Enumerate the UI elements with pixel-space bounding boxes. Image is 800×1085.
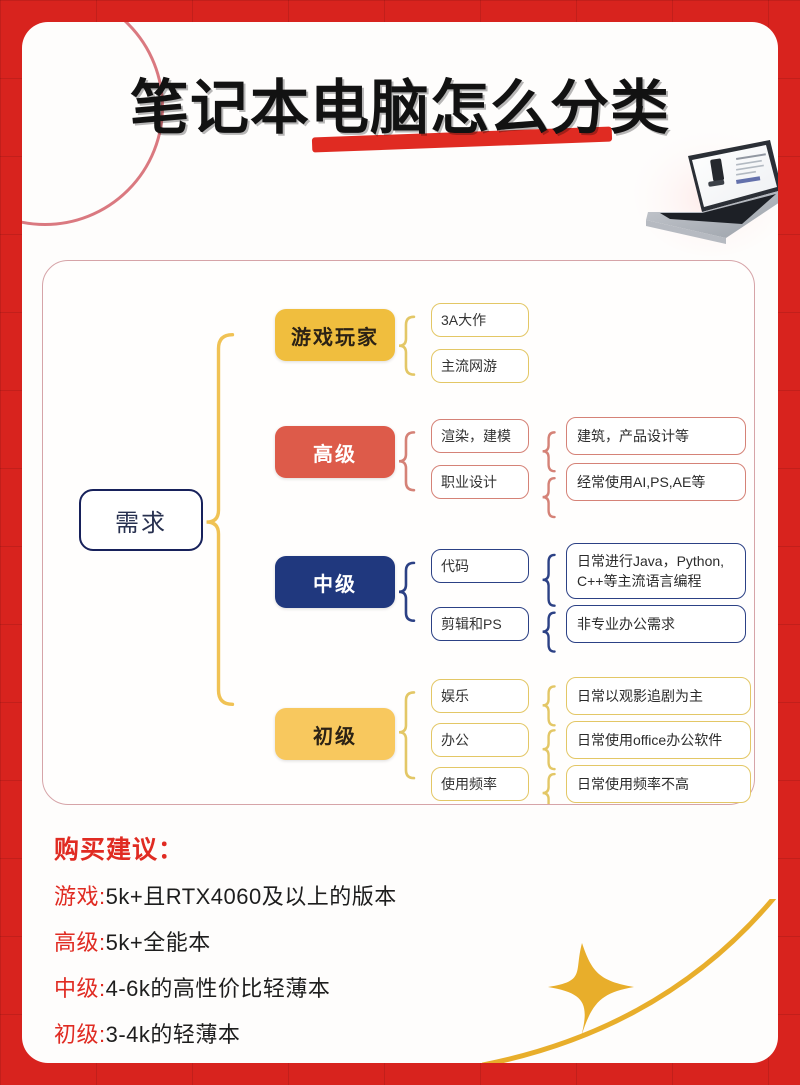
- detail-beg-movies[interactable]: 日常以观影追剧为主: [566, 677, 751, 715]
- detail-mid-programming-line2: C++等主流语言编程: [577, 571, 735, 591]
- advice-row-advanced-value: 5k+全能本: [106, 930, 211, 955]
- advice-row-intermediate-key: 中级:: [54, 976, 106, 1001]
- item-adv-design[interactable]: 职业设计: [431, 465, 529, 499]
- item-gamer-aaa-label: 3A大作: [441, 310, 486, 330]
- node-root-label: 需求: [115, 503, 167, 538]
- category-gamer-label: 游戏玩家: [291, 321, 379, 350]
- item-mid-code[interactable]: 代码: [431, 549, 529, 583]
- detail-mid-office-label: 非专业办公需求: [577, 614, 675, 634]
- detail-adv-tools-label: 经常使用AI,PS,AE等: [577, 472, 705, 492]
- advice-row-advanced-key: 高级:: [54, 930, 106, 955]
- detail-beg-frequency-label: 日常使用频率不高: [577, 774, 689, 794]
- detail-mid-programming-line1: 日常进行Java，Python,: [577, 551, 735, 571]
- mindmap-card: 需求 游戏玩家 高级 中级 初级 3A大作: [42, 260, 755, 805]
- detail-beg-office[interactable]: 日常使用office办公软件: [566, 721, 751, 759]
- poster-card: 笔记本电脑怎么分类: [22, 22, 778, 1063]
- advice-row-gaming-value: 5k+且RTX4060及以上的版本: [106, 884, 397, 909]
- advice-row-beginner-key: 初级:: [54, 1022, 106, 1047]
- item-beg-entertain-label: 娱乐: [441, 686, 469, 706]
- item-adv-render-label: 渲染，建模: [441, 426, 511, 446]
- item-mid-code-label: 代码: [441, 556, 469, 576]
- detail-adv-tools[interactable]: 经常使用AI,PS,AE等: [566, 463, 746, 501]
- item-adv-design-label: 职业设计: [441, 472, 497, 492]
- detail-adv-arch-label: 建筑，产品设计等: [577, 426, 689, 446]
- node-root[interactable]: 需求: [79, 489, 203, 551]
- detail-beg-office-label: 日常使用office办公软件: [577, 730, 722, 750]
- detail-mid-office[interactable]: 非专业办公需求: [566, 605, 746, 643]
- advice-title: 购买建议：: [54, 830, 754, 866]
- item-gamer-online[interactable]: 主流网游: [431, 349, 529, 383]
- item-beg-entertain[interactable]: 娱乐: [431, 679, 529, 713]
- category-advanced[interactable]: 高级: [275, 426, 395, 478]
- item-gamer-online-label: 主流网游: [441, 356, 497, 376]
- item-beg-office[interactable]: 办公: [431, 723, 529, 757]
- category-beginner[interactable]: 初级: [275, 708, 395, 760]
- advice-row-beginner-value: 3-4k的轻薄本: [106, 1022, 241, 1047]
- category-beginner-label: 初级: [313, 720, 357, 749]
- item-beg-office-label: 办公: [441, 730, 469, 750]
- category-gamer[interactable]: 游戏玩家: [275, 309, 395, 361]
- detail-beg-movies-label: 日常以观影追剧为主: [577, 686, 703, 706]
- advice-row-gaming-key: 游戏:: [54, 884, 106, 909]
- item-gamer-aaa[interactable]: 3A大作: [431, 303, 529, 337]
- poster-root: 笔记本电脑怎么分类: [0, 0, 800, 1085]
- golden-swoosh-sparkle: [482, 899, 778, 1063]
- laptop-illustration: [630, 120, 778, 260]
- advice-row-intermediate-value: 4-6k的高性价比轻薄本: [106, 976, 331, 1001]
- detail-beg-frequency[interactable]: 日常使用频率不高: [566, 765, 751, 803]
- category-intermediate[interactable]: 中级: [275, 556, 395, 608]
- item-beg-frequency[interactable]: 使用频率: [431, 767, 529, 801]
- item-mid-editing-label: 剪辑和PS: [441, 614, 502, 634]
- category-intermediate-label: 中级: [313, 568, 357, 597]
- category-advanced-label: 高级: [313, 438, 357, 467]
- item-beg-frequency-label: 使用频率: [441, 774, 497, 794]
- detail-adv-arch[interactable]: 建筑，产品设计等: [566, 417, 746, 455]
- item-adv-render[interactable]: 渲染，建模: [431, 419, 529, 453]
- item-mid-editing[interactable]: 剪辑和PS: [431, 607, 529, 641]
- detail-mid-programming[interactable]: 日常进行Java，Python, C++等主流语言编程: [566, 543, 746, 599]
